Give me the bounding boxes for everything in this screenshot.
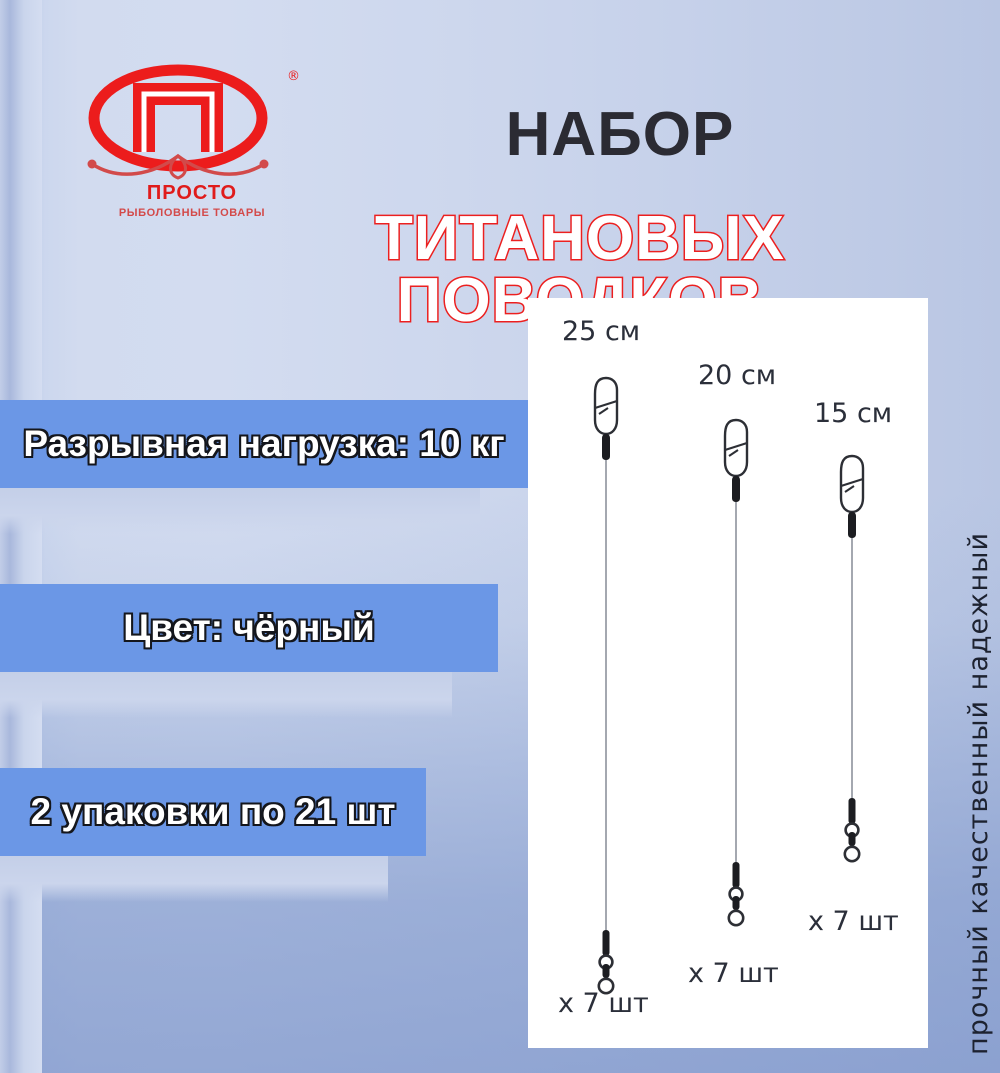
- leader-wire-illustration: [832, 446, 872, 876]
- feature-banner-label: Разрывная нагрузка: 10 кг: [23, 423, 504, 465]
- feature-banner-shadow: [0, 488, 480, 534]
- feature-banner-shadow: [0, 672, 452, 718]
- logo-mark-icon: ®: [74, 64, 310, 184]
- leader-length-label: 15 см: [814, 398, 892, 429]
- background-band-2: [10, 0, 24, 1073]
- feature-banner-label: 2 упаковки по 21 шт: [31, 791, 396, 833]
- product-infographic: ® ПРОСТО РЫБОЛОВНЫЕ ТОВАРЫ НАБОР ТИТАНОВ…: [0, 0, 1000, 1073]
- page-title: НАБОР: [300, 104, 940, 166]
- leader-length-label: 20 см: [698, 360, 776, 391]
- leader-quantity-label: х 7 шт: [558, 988, 649, 1019]
- feature-banner-breaking-load: Разрывная нагрузка: 10 кг: [0, 400, 534, 488]
- vertical-keywords: прочный качественный надежный: [963, 532, 994, 1055]
- feature-banner-label: Цвет: чёрный: [123, 607, 374, 649]
- background-band-3: [24, 0, 42, 1073]
- leader-wire-illustration: [586, 368, 626, 1008]
- leader-quantity-label: х 7 шт: [808, 906, 899, 937]
- feature-banner-quantity: 2 упаковки по 21 шт: [0, 768, 426, 856]
- product-photo-panel: 25 см х 7 шт 20 см: [528, 298, 928, 1048]
- feature-banner-color: Цвет: чёрный: [0, 584, 498, 672]
- registered-mark-glyph: ®: [287, 69, 300, 84]
- leader-quantity-label: х 7 шт: [688, 958, 779, 989]
- feature-banner-shadow: [0, 856, 388, 902]
- brand-name: ПРОСТО: [74, 182, 310, 205]
- leader-wire-illustration: [716, 410, 756, 940]
- leader-length-label: 25 см: [562, 316, 640, 347]
- background-band-1: [0, 0, 10, 1073]
